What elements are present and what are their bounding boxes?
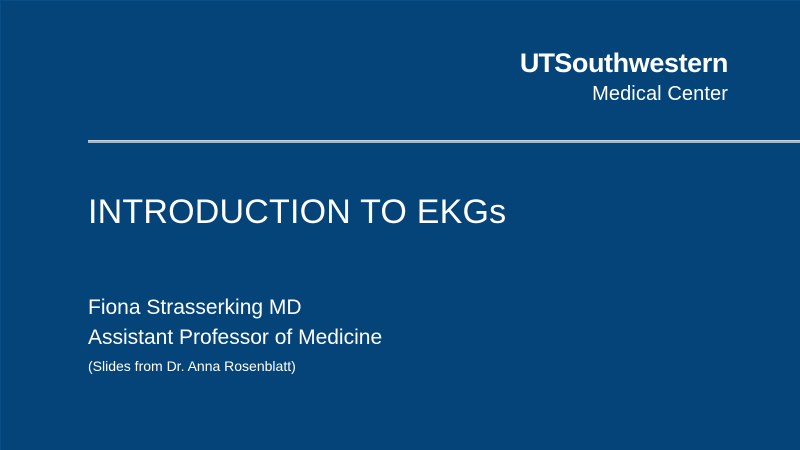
presenter-block: Fiona Strasserking MD Assistant Professo… xyxy=(88,293,382,376)
presenter-credit: (Slides from Dr. Anna Rosenblatt) xyxy=(88,356,382,376)
page-title: INTRODUCTION TO EKGs xyxy=(88,193,506,232)
presentation-title-slide: UTSouthwestern Medical Center INTRODUCTI… xyxy=(0,0,800,450)
logo-wordmark-prefix: UT xyxy=(520,48,554,78)
logo-wordmark: UTSouthwestern xyxy=(520,50,728,77)
title-divider-rule xyxy=(88,140,800,143)
ut-southwestern-logo: UTSouthwestern Medical Center xyxy=(520,50,728,104)
presenter-name: Fiona Strasserking MD xyxy=(88,293,382,323)
logo-wordmark-main: Southwestern xyxy=(554,48,728,78)
logo-subtitle: Medical Center xyxy=(520,84,728,104)
presenter-role: Assistant Professor of Medicine xyxy=(88,323,382,353)
